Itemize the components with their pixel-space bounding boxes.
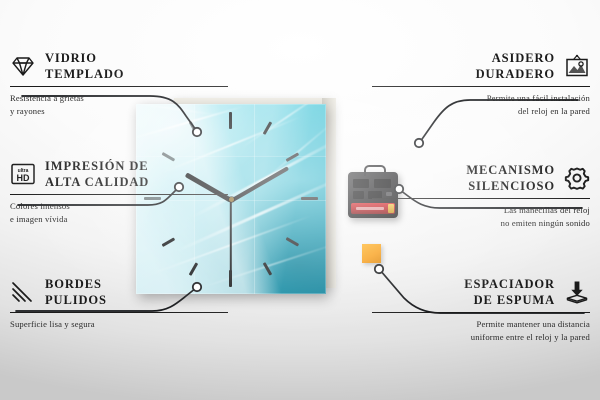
- feature-rule: [10, 194, 228, 195]
- feature-desc-line1: Permite mantener una distancia: [477, 319, 591, 329]
- foam-spacer: [362, 244, 381, 263]
- feature-title-line1: MECANISMO: [466, 163, 555, 177]
- clock-tick: [229, 112, 232, 129]
- clock-tick: [301, 197, 318, 200]
- feature-desc-line1: Permite una fácil instalación: [487, 93, 590, 103]
- feature-title-line2: DURADERO: [476, 67, 555, 81]
- ultra-hd-icon: ultra HD: [10, 162, 36, 186]
- feature-rule: [372, 198, 590, 199]
- feature-title-line2: TEMPLADO: [45, 67, 124, 81]
- connector-dot: [375, 265, 383, 273]
- feature-mecanismo-silencioso: MECANISMO SILENCIOSO Las manecillas del …: [372, 162, 590, 229]
- feature-title-line2: SILENCIOSO: [468, 179, 555, 193]
- feature-espaciador-de-espuma: ESPACIADOR DE ESPUMA Permite mantener un…: [372, 276, 590, 343]
- svg-text:HD: HD: [17, 173, 30, 183]
- feature-desc-line2: e imagen vívida: [10, 214, 68, 224]
- feature-rule: [10, 86, 228, 87]
- clock-minute-hand: [230, 166, 289, 202]
- feature-bordes-pulidos: BORDES PULIDOS Superficie lisa y segura: [10, 276, 228, 331]
- clock-tick: [229, 270, 232, 287]
- feature-desc-line2: uniforme entre el reloj y la pared: [471, 332, 590, 342]
- feature-title-line2: PULIDOS: [45, 293, 107, 307]
- feature-desc-line1: Colores intensos: [10, 201, 70, 211]
- feature-desc-line2: del reloj en la pared: [518, 106, 590, 116]
- feature-vidrio-templado: VIDRIO TEMPLADO Resistencia a grietas y …: [10, 50, 228, 117]
- clock-second-hand: [230, 200, 232, 272]
- feature-rule: [372, 312, 590, 313]
- infographic-canvas: VIDRIO TEMPLADO Resistencia a grietas y …: [0, 0, 600, 400]
- feature-impresion-alta-calidad: ultra HD IMPRESIÓN DE ALTA CALIDAD Color…: [10, 158, 228, 225]
- feature-title-line2: DE ESPUMA: [474, 293, 555, 307]
- diagonal-lines-icon: [10, 280, 36, 304]
- gear-icon: [564, 166, 590, 190]
- feature-title-line1: BORDES: [45, 277, 102, 291]
- feature-title-line2: ALTA CALIDAD: [45, 175, 149, 189]
- feature-desc-line2: y rayones: [10, 106, 45, 116]
- feature-rule: [372, 86, 590, 87]
- connector-dot: [415, 139, 423, 147]
- feature-asidero-duradero: ASIDERO DURADERO Permite una fácil insta…: [372, 50, 590, 117]
- feature-desc-line1: Superficie lisa y segura: [10, 319, 95, 329]
- feature-title-line1: ESPACIADOR: [464, 277, 555, 291]
- feature-desc-line1: Las manecillas del reloj: [504, 205, 590, 215]
- feature-title-line1: ASIDERO: [492, 51, 555, 65]
- clock-tick: [286, 237, 299, 246]
- diamond-icon: [10, 54, 36, 78]
- feature-desc-line2: no emiten ningún sonido: [501, 218, 590, 228]
- arrow-down-pad-icon: [564, 280, 590, 304]
- clock-center-pin: [229, 197, 234, 202]
- feature-rule: [10, 312, 228, 313]
- feature-title-line1: VIDRIO: [45, 51, 97, 65]
- feature-title-line1: IMPRESIÓN DE: [45, 159, 149, 173]
- hanging-frame-icon: [564, 54, 590, 78]
- feature-desc-line1: Resistencia a grietas: [10, 93, 84, 103]
